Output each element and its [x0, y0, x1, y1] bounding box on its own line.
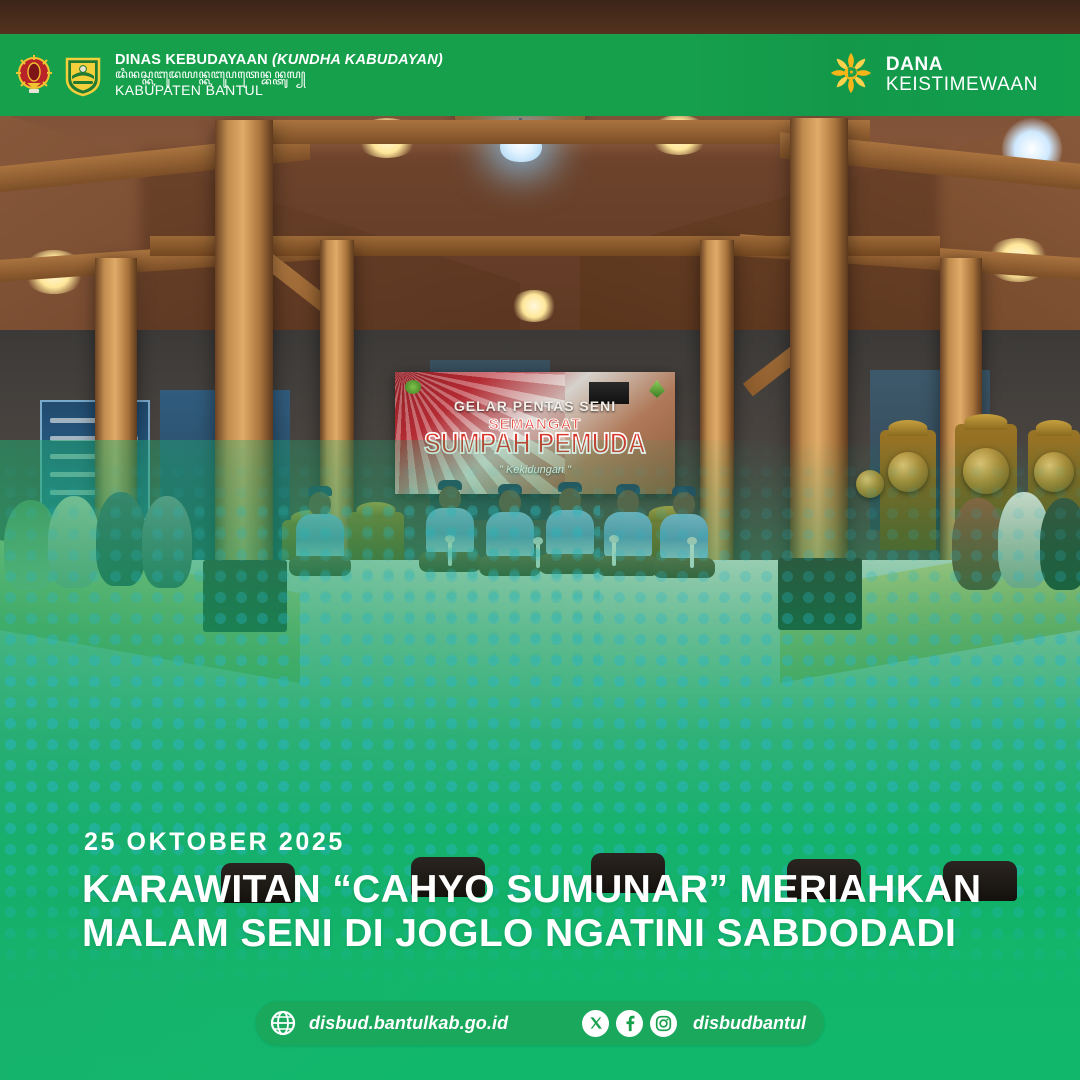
pemda-diy-crest: [14, 53, 54, 97]
website-url[interactable]: disbud.bantulkab.go.id: [309, 1013, 508, 1034]
event-date: 25 OKTOBER 2025: [84, 828, 345, 857]
banner-logo-leaf: [649, 380, 665, 398]
downlight: [510, 290, 558, 322]
headline-line-1: KARAWITAN “CAHYO SUMUNAR” MERIAHKAN: [82, 868, 981, 912]
social-links: disbudbantul: [582, 1010, 806, 1037]
dana-line-2: KEISTIMEWAAN: [886, 75, 1038, 95]
org-name-bold: DINAS KEBUDAYAAN: [115, 52, 268, 68]
social-handle[interactable]: disbudbantul: [693, 1013, 806, 1034]
org-regency-line: KABUPATEN BANTUL: [115, 83, 443, 99]
dana-keistimewaan-flower-logo: [827, 49, 875, 102]
top-photo-strip: [0, 0, 1080, 34]
x-twitter-icon[interactable]: [582, 1010, 609, 1037]
banner-logo-small: [405, 380, 421, 394]
bantul-regency-crest: [63, 53, 103, 97]
instagram-icon[interactable]: [650, 1010, 677, 1037]
globe-icon: [270, 1010, 296, 1036]
org-identity-block: DINAS KEBUDAYAAN (KUNDHA KABUDAYAN) ꦢꦶꦤꦱ…: [115, 52, 443, 98]
halftone-dot-pattern: [0, 440, 1080, 1080]
footer-contact-bar: disbud.bantulkab.go.id disbudbantul: [256, 1001, 824, 1045]
dana-keistimewaan-wordmark: DANA KEISTIMEWAAN: [886, 55, 1038, 95]
headline-line-2: MALAM SENI DI JOGLO NGATINI SABDODADI: [82, 912, 981, 956]
facebook-icon[interactable]: [616, 1010, 643, 1037]
org-name-italic: (KUNDHA KABUDAYAN): [272, 52, 443, 68]
roof-beam: [250, 120, 870, 144]
headline: KARAWITAN “CAHYO SUMUNAR” MERIAHKAN MALA…: [82, 868, 981, 955]
org-name-line: DINAS KEBUDAYAAN (KUNDHA KABUDAYAN): [115, 52, 443, 68]
dana-line-1: DANA: [886, 55, 1038, 75]
banner-line-1: GELAR PENTAS SENI: [395, 398, 675, 414]
dana-keistimewaan-block: DANA KEISTIMEWAAN: [827, 49, 1038, 102]
org-name-javanese-script: ꦢꦶꦤꦱ꧀ꦏꦧꦸꦢꦪꦤ꧀ꦏꦧꦸꦥꦠꦺꦤ꧀ꦧꦤ꧀ꦠꦸꦭ꧀: [115, 68, 443, 81]
poster-canvas: GELAR PENTAS SENI SEMANGAT SUMPAH PEMUDA…: [0, 0, 1080, 1080]
header-bar: DINAS KEBUDAYAAN (KUNDHA KABUDAYAN) ꦢꦶꦤꦱ…: [0, 34, 1080, 116]
crest-group: [14, 53, 103, 97]
